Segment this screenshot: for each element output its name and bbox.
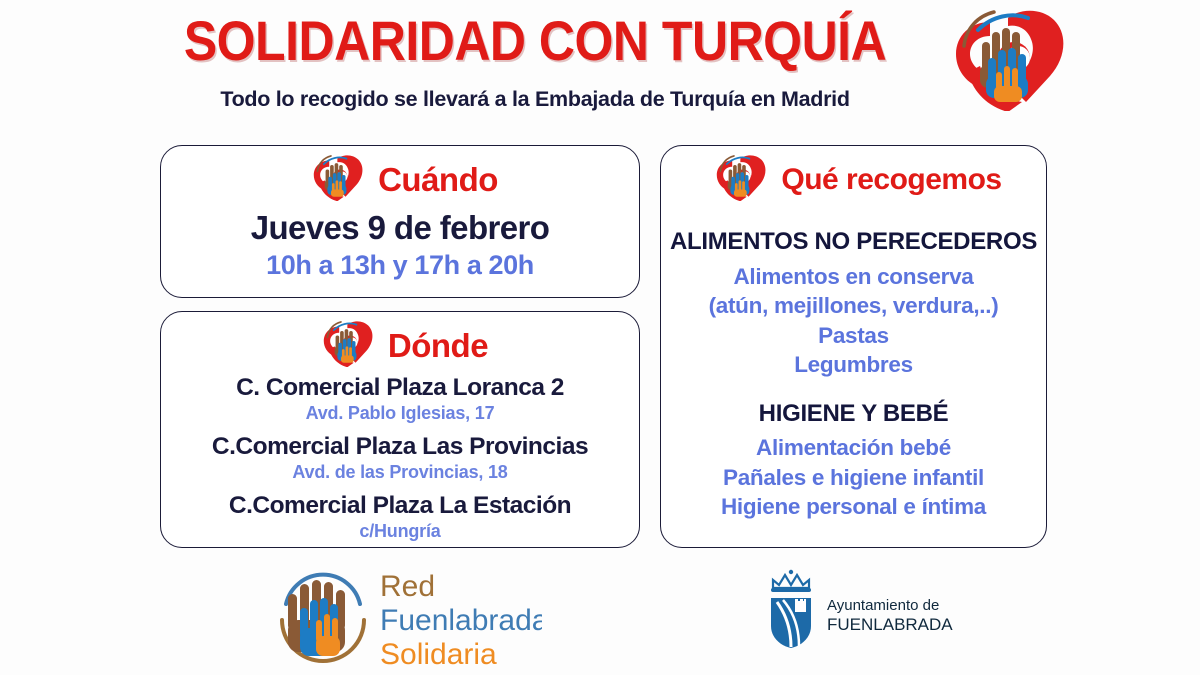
event-times: 10h a 13h y 17h a 20h	[161, 250, 639, 281]
event-date: Jueves 9 de febrero	[161, 209, 639, 247]
list-item: Pañales e higiene infantil	[661, 463, 1046, 492]
section-title-donde: Dónde	[388, 329, 488, 362]
logo-line-solidaria: Solidaria	[380, 638, 497, 670]
logo-line-fuenlabrada: Fuenlabrada	[380, 604, 542, 637]
section-title-cuando: Cuándo	[378, 163, 498, 196]
heart-hands-icon	[705, 153, 773, 206]
location-name: C.Comercial Plaza Las Provincias	[161, 433, 639, 461]
location-address: Avd. de las Provincias, 18	[161, 462, 639, 484]
header-text-block: SOLIDARIDAD CON TURQUÍA Todo lo recogido…	[150, 12, 920, 112]
ayto-line-1: Ayuntamiento de	[827, 597, 939, 614]
heart-hands-icon	[302, 153, 370, 206]
ayto-line-2: FUENLABRADA	[827, 615, 953, 634]
category-alimentos: ALIMENTOS NO PERECEDEROS Alimentos en co…	[661, 228, 1046, 380]
page-title: SOLIDARIDAD CON TURQUÍA	[150, 12, 920, 71]
category-title: HIGIENE Y BEBÉ	[661, 400, 1046, 429]
fuenlabrada-crest-icon	[771, 570, 811, 648]
poster-header: SOLIDARIDAD CON TURQUÍA Todo lo recogido…	[0, 0, 1200, 128]
three-hands-circle-logo-icon	[282, 575, 364, 661]
turkey-solidarity-heart-hands-logo-icon	[930, 6, 1080, 111]
list-item: Higiene personal e íntima	[661, 492, 1046, 521]
list-item: C.Comercial Plaza Las Provincias Avd. de…	[161, 433, 639, 484]
panel-donde: Dónde C. Comercial Plaza Loranca 2 Avd. …	[160, 311, 640, 548]
ayuntamiento-fuenlabrada-logo: Ayuntamiento de FUENLABRADA	[765, 568, 985, 650]
panel-que-recogemos: Qué recogemos ALIMENTOS NO PERECEDEROS A…	[660, 145, 1047, 548]
list-item: Alimentos en conserva	[661, 262, 1046, 291]
category-higiene: HIGIENE Y BEBÉ Alimentación bebé Pañales…	[661, 400, 1046, 522]
que-recogemos-header: Qué recogemos	[661, 146, 1046, 206]
list-item: Legumbres	[661, 350, 1046, 379]
red-fuenlabrada-solidaria-logo: Red Fuenlabrada Solidaria	[262, 562, 542, 670]
location-name: C.Comercial Plaza La Estación	[161, 492, 639, 520]
cuando-header: Cuándo	[161, 146, 639, 206]
list-item: Alimentación bebé	[661, 433, 1046, 462]
category-title: ALIMENTOS NO PERECEDEROS	[661, 228, 1046, 257]
list-item: Pastas	[661, 321, 1046, 350]
location-address: Avd. Pablo Iglesias, 17	[161, 403, 639, 425]
location-name: C. Comercial Plaza Loranca 2	[161, 374, 639, 402]
section-title-que-recogemos: Qué recogemos	[781, 165, 1001, 195]
list-item: C.Comercial Plaza La Estación c/Hungría	[161, 492, 639, 543]
list-item: (atún, mejillones, verdura,..)	[661, 291, 1046, 320]
logo-line-red: Red	[380, 570, 435, 603]
locations-list: C. Comercial Plaza Loranca 2 Avd. Pablo …	[161, 374, 639, 542]
list-item: C. Comercial Plaza Loranca 2 Avd. Pablo …	[161, 374, 639, 425]
location-address: c/Hungría	[161, 521, 639, 543]
donde-header: Dónde	[161, 312, 639, 372]
panel-cuando: Cuándo Jueves 9 de febrero 10h a 13h y 1…	[160, 145, 640, 298]
heart-hands-icon	[312, 319, 380, 372]
